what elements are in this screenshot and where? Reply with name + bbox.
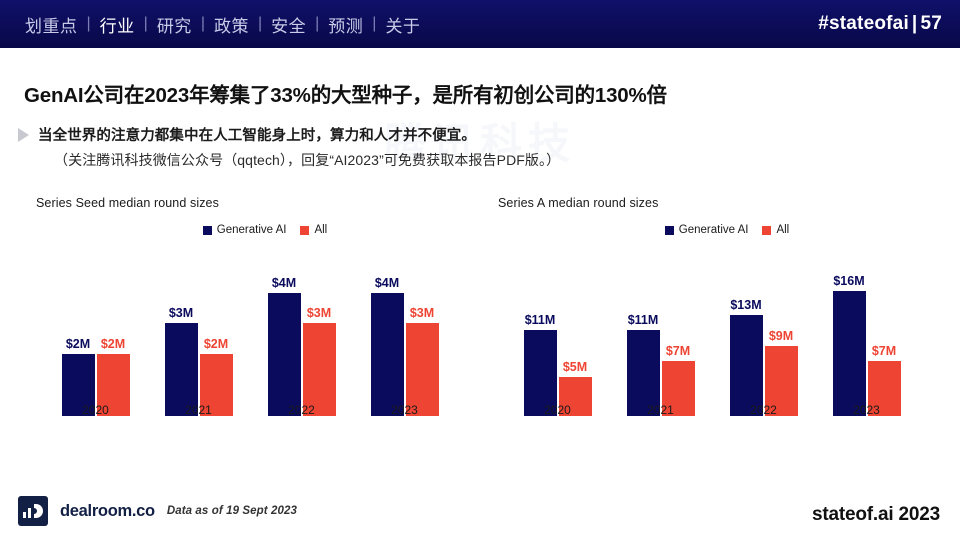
subhead-line-1: 当全世界的注意力都集中在人工智能身上时，算力和人才并不便宜。 [38,124,476,145]
chart-plot-left: $2M$2M2020$3M$2M2021$4M$3M2022$4M$3M2023 [30,246,470,416]
legend-item-right-1[interactable]: Generative AI [665,224,749,236]
x-axis-tick-2022: 2022 [256,403,348,417]
bar-value-label: $7M [666,344,690,358]
nav-item-5[interactable]: 安全 [262,12,315,37]
brand-hashtag: #stateofai [818,13,909,34]
legend-item-right-2[interactable]: All [762,224,789,236]
bar-value-label: $9M [769,329,793,343]
bar-seriesa-2023-genai[interactable]: $16M [833,291,866,416]
bar-value-label: $11M [525,313,556,327]
legend-item-left-2[interactable]: All [300,224,327,236]
nav-item-1[interactable]: 划重点 [16,12,87,37]
nav-item-list: 划重点|行业|研究|政策|安全|预测|关于 [16,12,429,37]
bar-value-label: $13M [730,298,761,312]
bar-value-label: $4M [272,276,296,290]
x-axis-tick-2020: 2020 [50,403,142,417]
footer-source-block: dealroom.co Data as of 19 Sept 2023 [18,496,297,526]
x-axis-tick-2020: 2020 [512,403,604,417]
footer-brand: stateof.ai 2023 [812,504,940,526]
bar-value-label: $3M [410,306,434,320]
bar-group-seed-2021: $3M$2M2021 [153,246,245,416]
legend-label: All [776,224,789,236]
top-navigation-bar: 划重点|行业|研究|政策|安全|预测|关于 #stateofai|57 [0,0,960,48]
chart-title-right: Series A median round sizes [498,196,932,210]
chart-plot-right: $11M$5M2020$11M$7M2021$13M$9M2022$16M$7M… [492,246,932,416]
bar-pair: $13M$9M [730,268,798,416]
legend-label: Generative AI [217,224,287,236]
bar-value-label: $4M [375,276,399,290]
chart-panel-series-seed: Series Seed median round sizes Generativ… [30,196,470,446]
page-title: GenAI公司在2023年筹集了33%的大型种子，是所有初创公司的130%倍 [24,78,924,108]
dealroom-logo-icon [18,496,48,526]
bar-pair: $4M$3M [268,268,336,416]
nav-item-2[interactable]: 行业 [91,12,144,37]
bar-seed-2022-genai[interactable]: $4M [268,293,301,416]
logo-bar-1 [23,512,26,518]
bar-pair: $2M$2M [62,268,130,416]
brand-page-indicator: #stateofai|57 [818,13,942,35]
legend-swatch-icon [203,226,212,235]
bar-group-seed-2022: $4M$3M2022 [256,246,348,416]
brand-separator: | [909,13,921,34]
slide-root: 划重点|行业|研究|政策|安全|预测|关于 #stateofai|57 腾讯科技… [0,0,960,540]
nav-item-4[interactable]: 政策 [205,12,258,37]
bar-pair: $3M$2M [165,268,233,416]
nav-item-7[interactable]: 关于 [376,12,429,37]
bar-seriesa-2022-genai[interactable]: $13M [730,315,763,416]
page-number: 57 [920,13,942,34]
bar-pair: $11M$5M [524,268,592,416]
bar-group-seed-2020: $2M$2M2020 [50,246,142,416]
bar-value-label: $2M [101,337,125,351]
x-axis-tick-2021: 2021 [615,403,707,417]
legend-swatch-icon [665,226,674,235]
bar-group-seriesa-2023: $16M$7M2023 [821,246,913,416]
bar-value-label: $5M [563,360,587,374]
subhead-line-2: （关注腾讯科技微信公众号（qqtech），回复“AI2023”可免费获取本报告P… [54,150,938,170]
data-as-of-label: Data as of 19 Sept 2023 [167,505,297,517]
x-axis-tick-2023: 2023 [359,403,451,417]
bar-value-label: $2M [204,337,228,351]
dealroom-wordmark: dealroom.co [60,502,155,521]
bar-value-label: $3M [169,306,193,320]
bar-seed-2023-genai[interactable]: $4M [371,293,404,416]
nav-item-3[interactable]: 研究 [148,12,201,37]
bar-value-label: $3M [307,306,331,320]
x-axis-tick-2023: 2023 [821,403,913,417]
legend-label: Generative AI [679,224,749,236]
x-axis-tick-2022: 2022 [718,403,810,417]
chart-legend-left: Generative AIAll [30,224,470,236]
chart-title-left: Series Seed median round sizes [36,196,470,210]
chart-legend-right: Generative AIAll [492,224,932,236]
bullet-triangle-icon [18,128,29,142]
chart-panel-series-a: Series A median round sizes Generative A… [492,196,932,446]
bar-value-label: $16M [833,274,864,288]
bar-group-seed-2023: $4M$3M2023 [359,246,451,416]
legend-swatch-icon [762,226,771,235]
bar-value-label: $11M [628,313,659,327]
legend-label: All [314,224,327,236]
legend-swatch-icon [300,226,309,235]
bar-pair: $16M$7M [833,268,901,416]
bar-group-seriesa-2020: $11M$5M2020 [512,246,604,416]
bar-pair: $11M$7M [627,268,695,416]
bar-pair: $4M$3M [371,268,439,416]
logo-bar-2 [28,508,31,518]
bar-group-seriesa-2022: $13M$9M2022 [718,246,810,416]
subhead-block: 当全世界的注意力都集中在人工智能身上时，算力和人才并不便宜。 （关注腾讯科技微信… [18,124,938,170]
x-axis-tick-2021: 2021 [153,403,245,417]
logo-letter-d [34,504,43,518]
bar-group-seriesa-2021: $11M$7M2021 [615,246,707,416]
nav-item-6[interactable]: 预测 [319,12,372,37]
legend-item-left-1[interactable]: Generative AI [203,224,287,236]
bar-value-label: $7M [872,344,896,358]
bar-value-label: $2M [66,337,90,351]
